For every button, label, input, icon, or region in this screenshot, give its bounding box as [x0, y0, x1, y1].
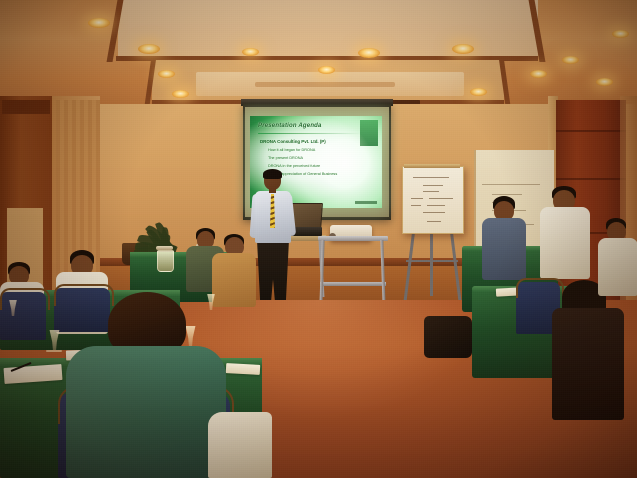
downlight-2 [158, 70, 175, 78]
attendee-right-2 [540, 186, 590, 282]
slide-title-rule [258, 133, 362, 134]
downlight-7 [452, 44, 474, 54]
attendee-right-foreground [552, 280, 624, 420]
ac-vent-upper [255, 82, 395, 87]
downlight-6 [358, 48, 380, 58]
slide-bullet-0: DRONA Consulting Pvt. Ltd. (P) [260, 139, 326, 144]
presenter-hair [263, 169, 282, 179]
slide-title: Presentation Agenda [258, 123, 322, 129]
slide-footer-logo [355, 201, 377, 204]
downlight-12 [612, 30, 629, 38]
trolley-mid-shelf [320, 282, 386, 286]
slide-bullet-1: How it all began for DRONA [268, 148, 315, 152]
attendee-right-1 [482, 196, 526, 282]
pitcher-back [157, 250, 174, 272]
slide-bullet-3: DRONA in the perceived future [268, 164, 320, 168]
left-door-header [2, 100, 50, 114]
floor-bag-right [424, 316, 472, 358]
downlight-3 [172, 90, 189, 98]
ceiling-panel-outer [118, 0, 538, 60]
attendee-far-right [598, 218, 637, 298]
downlight-10 [562, 56, 579, 64]
wine-glass-1-base [46, 350, 62, 352]
chair-left-2-rail [0, 288, 50, 310]
notepad-front-3 [226, 363, 260, 375]
downlight-11 [596, 78, 613, 86]
downlight-1 [138, 44, 160, 54]
flipchart-clamp [404, 164, 460, 168]
downlight-5 [318, 66, 335, 74]
slide-bullet-2: The present DRONA [268, 156, 303, 160]
attendee-foreground [66, 292, 226, 478]
conference-room-photo: Presentation Agenda DRONA Consulting Pvt… [0, 0, 637, 478]
downlight-4 [242, 48, 259, 56]
flipchart-legs [404, 226, 460, 304]
trolley-top-shelf [318, 236, 388, 241]
flipchart-board[interactable] [402, 166, 464, 234]
downlight-0 [88, 18, 110, 28]
attendee-foreground-right [208, 412, 272, 478]
downlight-9 [530, 70, 547, 78]
downlight-8 [470, 88, 487, 96]
